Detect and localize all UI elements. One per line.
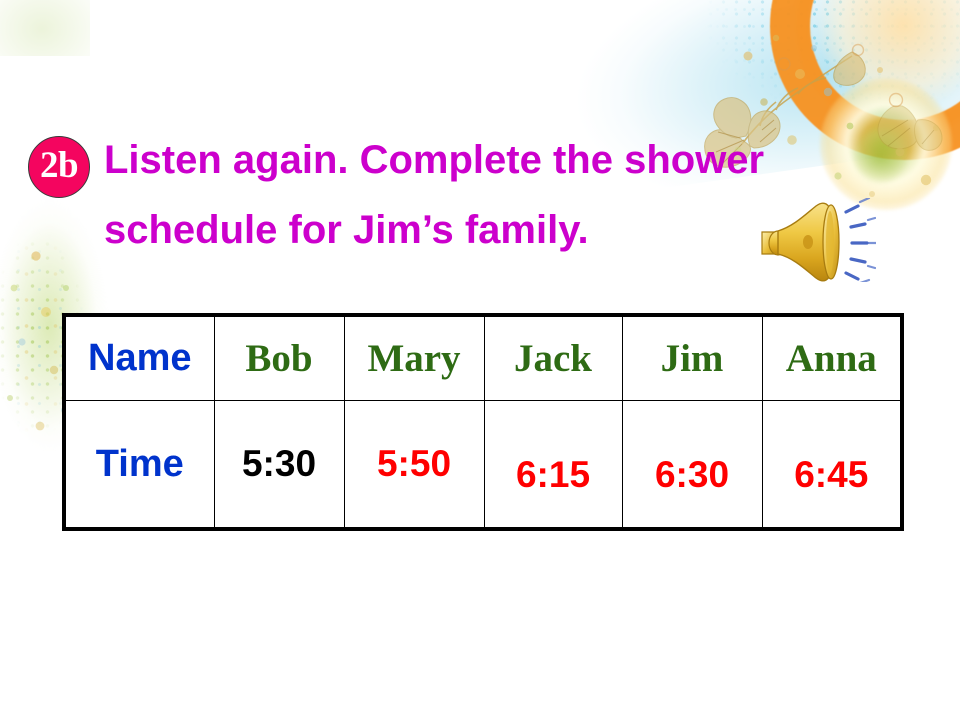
name-cell-jim: Jim xyxy=(622,315,762,401)
instruction-line-2: schedule for Jim’s family. xyxy=(104,208,589,252)
orange-ring-decoration xyxy=(770,0,960,160)
name-cell-anna: Anna xyxy=(762,315,902,401)
speaker-icon[interactable] xyxy=(756,198,876,282)
time-cell-anna: 6:45 xyxy=(762,401,902,530)
orange-glow-decoration xyxy=(818,0,960,110)
name-cell-bob: Bob xyxy=(214,315,344,401)
green-glow-ring-decoration xyxy=(820,78,952,210)
table-row-name: Name Bob Mary Jack Jim Anna xyxy=(64,315,902,401)
time-cell-jack: 6:15 xyxy=(484,401,622,530)
confetti-dots-decoration xyxy=(730,30,960,210)
cyan-mist-decoration xyxy=(412,0,960,218)
name-cell-jack: Jack xyxy=(484,315,622,401)
corner-smudge-decoration xyxy=(0,0,90,56)
leaf-small-decoration xyxy=(864,86,954,166)
row-header-time: Time xyxy=(64,401,214,530)
table-row-time: Time 5:30 5:50 6:15 6:30 6:45 xyxy=(64,401,902,530)
time-cell-bob: 5:30 xyxy=(214,401,344,530)
shower-schedule-table: Name Bob Mary Jack Jim Anna Time 5:30 5:… xyxy=(62,313,904,531)
instruction-line-1: Listen again. Complete the shower xyxy=(104,138,764,182)
slide-canvas: 2b Listen again. Complete the shower sch… xyxy=(0,0,960,720)
name-cell-mary: Mary xyxy=(344,315,484,401)
task-number-badge: 2b xyxy=(28,136,90,198)
time-cell-jim: 6:30 xyxy=(622,401,762,530)
time-cell-mary: 5:50 xyxy=(344,401,484,530)
row-header-name: Name xyxy=(64,315,214,401)
green-glow-ring-small-decoration xyxy=(852,128,908,184)
task-number-label: 2b xyxy=(40,147,78,187)
orange-inner-ring-decoration xyxy=(796,0,960,134)
